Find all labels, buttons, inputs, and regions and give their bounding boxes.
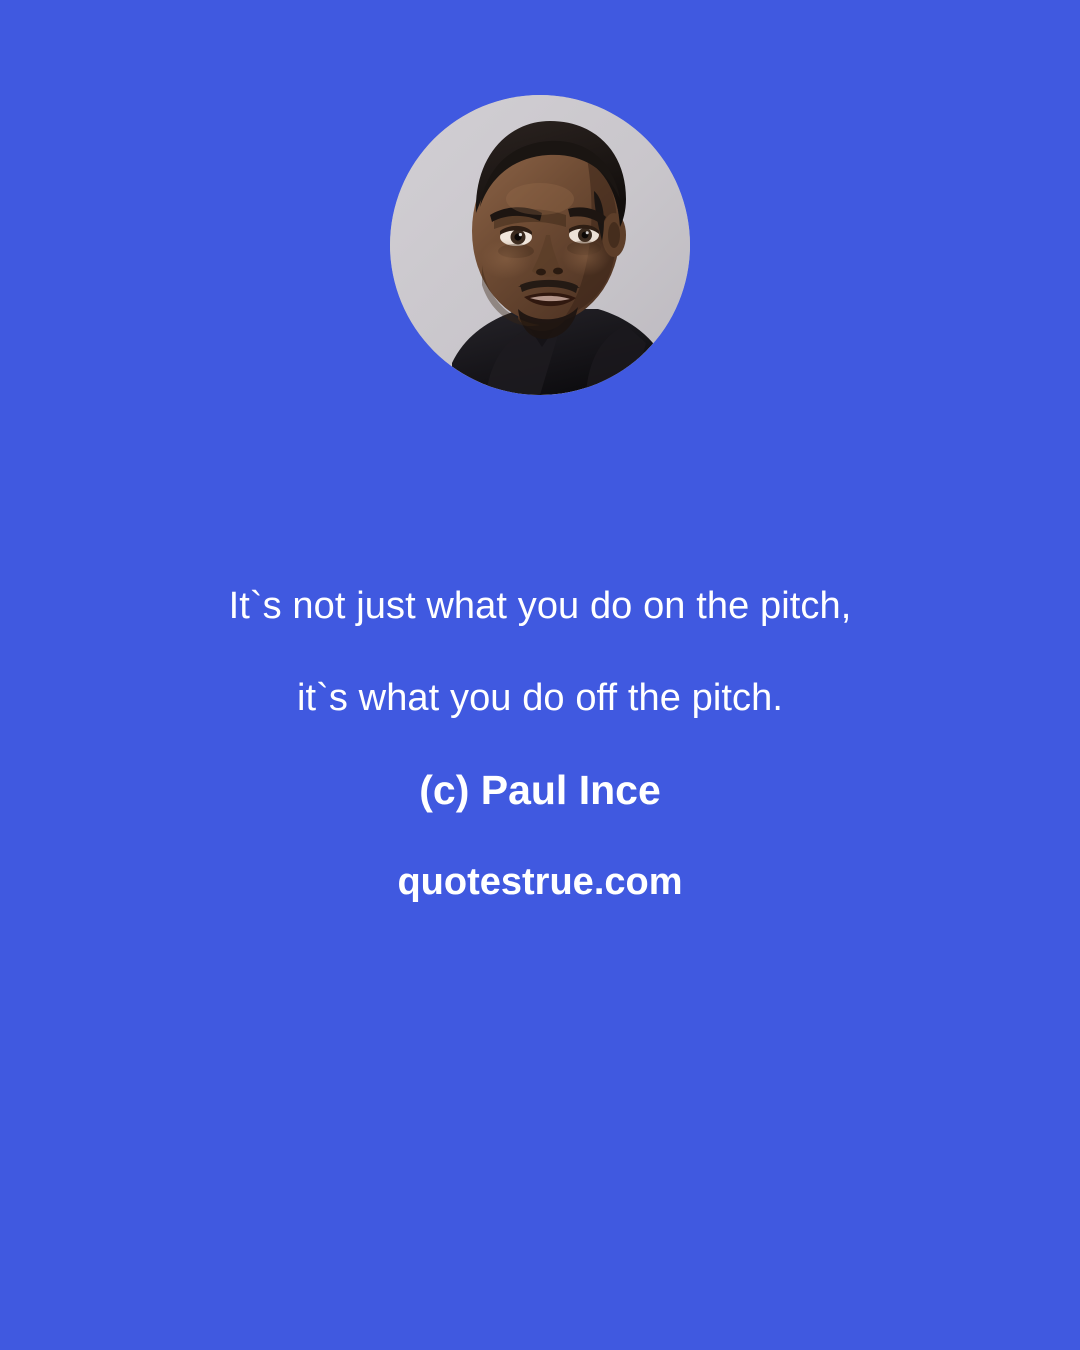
quote-attribution: (c) Paul Ince — [0, 744, 1080, 836]
quote-line-2: it`s what you do off the pitch. — [0, 652, 1080, 744]
quote-text-block: It`s not just what you do on the pitch, … — [0, 560, 1080, 928]
person-portrait-photo-icon — [390, 95, 690, 395]
quote-line-1: It`s not just what you do on the pitch, — [0, 560, 1080, 652]
quote-card: It`s not just what you do on the pitch, … — [0, 0, 1080, 1350]
author-portrait-avatar — [390, 95, 690, 395]
source-website: quotestrue.com — [0, 836, 1080, 928]
